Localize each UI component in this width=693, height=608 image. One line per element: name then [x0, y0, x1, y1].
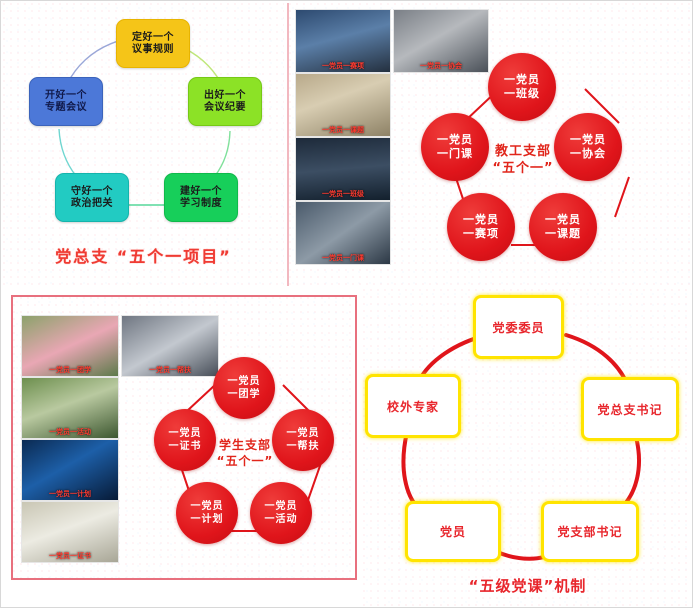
panel-student-branch-five-ones: 一党员一团学 一党员一帮扶 一党员一活动 一党员一计划 一党员一证书 一党员 一…	[11, 295, 357, 580]
flow-panel-title: 党总支 “五个一项目”	[3, 243, 284, 267]
node-line1: 一党员	[570, 133, 606, 147]
photo-caption: 一党员一团学	[22, 365, 118, 375]
flow-node-line1: 建好一个	[180, 186, 222, 198]
node-line2: 一帮扶	[287, 440, 320, 453]
student-node-youth-league[interactable]: 一党员 一团学	[213, 357, 275, 419]
node-line1: 一党员	[437, 133, 473, 147]
lecture-node-external-expert[interactable]: 校外专家	[365, 374, 461, 438]
node-line1: 一党员	[191, 500, 224, 513]
photo-thumbnail: 一党员一课题	[295, 73, 391, 137]
staff-node-research[interactable]: 一党员 一课题	[529, 193, 597, 261]
flow-node-political-check[interactable]: 守好一个 政治把关	[55, 173, 129, 222]
node-line2: 一证书	[169, 440, 202, 453]
flow-node-line2: 会议纪要	[204, 102, 246, 114]
lecture-node-label: 校外专家	[387, 398, 439, 415]
photo-thumbnail: 一党员一班级	[295, 137, 391, 201]
photo-thumbnail: 一党员一活动	[21, 377, 119, 439]
node-line2: 一班级	[504, 87, 540, 101]
flow-node-line1: 定好一个	[132, 32, 174, 44]
node-line1: 一党员	[463, 213, 499, 227]
student-ring-center-label: 学生支部 “五个一”	[203, 437, 287, 469]
lecture-node-label: 党员	[440, 523, 466, 540]
center-line2: “五个一”	[475, 160, 571, 177]
node-line2: 一活动	[265, 513, 298, 526]
student-node-activity[interactable]: 一党员 一活动	[250, 482, 312, 544]
flow-node-line2: 专题会议	[45, 102, 87, 114]
panel-five-level-lecture-mechanism: 党委委员 党总支书记 党支部书记 党员 校外专家 “五级党课”机制	[363, 289, 692, 607]
node-line1: 一党员	[169, 427, 202, 440]
flow-node-line1: 开好一个	[45, 90, 87, 102]
photo-thumbnail: 一党员一团学	[21, 315, 119, 377]
flow-node-line1: 出好一个	[204, 90, 246, 102]
lecture-node-label: 党总支书记	[597, 401, 662, 418]
photo-thumbnail: 一党员一赛项	[295, 9, 391, 73]
flow-node-study-system[interactable]: 建好一个 学习制度	[164, 173, 238, 222]
photo-caption: 一党员一赛项	[296, 61, 390, 71]
node-line1: 一党员	[287, 427, 320, 440]
flow-node-line2: 学习制度	[180, 198, 222, 210]
slide-canvas: 定好一个 议事规则 出好一个 会议纪要 建好一个 学习制度 守好一个 政治把关 …	[0, 0, 693, 608]
center-line2: “五个一”	[203, 453, 287, 469]
flow-node-rules[interactable]: 定好一个 议事规则	[116, 19, 190, 68]
lecture-node-label: 党委委员	[492, 319, 544, 336]
node-line1: 一党员	[265, 500, 298, 513]
staff-ring-center-label: 教工支部 “五个一”	[475, 143, 571, 177]
node-line1: 一党员	[545, 213, 581, 227]
photo-thumbnail: 一党员一门课	[295, 201, 391, 265]
node-line2: 一赛项	[463, 227, 499, 241]
node-line2: 一门课	[437, 147, 473, 161]
photo-thumbnail: 一党员一证书	[21, 501, 119, 563]
panel-staff-branch-five-ones: 一党员一赛项 一党员一协会 一党员一课题 一党员一班级 一党员一门课 一党员 一…	[287, 3, 692, 286]
photo-caption: 一党员一证书	[22, 551, 118, 561]
node-line1: 一党员	[504, 73, 540, 87]
node-line2: 一协会	[570, 147, 606, 161]
student-node-plan[interactable]: 一党员 一计划	[176, 482, 238, 544]
flow-node-line2: 议事规则	[132, 44, 174, 56]
photo-caption: 一党员一课题	[296, 125, 390, 135]
lecture-node-branch-secretary[interactable]: 党支部书记	[541, 501, 639, 562]
lecture-node-party-member[interactable]: 党员	[405, 501, 501, 562]
flow-node-line2: 政治把关	[71, 198, 113, 210]
lecture-panel-title: “五级党课”机制	[363, 575, 692, 596]
node-line2: 一计划	[191, 513, 224, 526]
node-line1: 一党员	[228, 375, 261, 388]
lecture-node-general-branch-secretary[interactable]: 党总支书记	[581, 377, 679, 441]
lecture-node-label: 党支部书记	[557, 523, 622, 540]
lecture-node-committee-member[interactable]: 党委委员	[473, 295, 564, 359]
flow-node-line1: 守好一个	[71, 186, 113, 198]
node-line2: 一课题	[545, 227, 581, 241]
node-line2: 一团学	[228, 388, 261, 401]
panel-party-branch-five-ones: 定好一个 议事规则 出好一个 会议纪要 建好一个 学习制度 守好一个 政治把关 …	[3, 3, 284, 286]
center-line1: 学生支部	[203, 437, 287, 453]
photo-caption: 一党员一计划	[22, 489, 118, 499]
photo-caption: 一党员一门课	[296, 253, 390, 263]
flow-node-special-meeting[interactable]: 开好一个 专题会议	[29, 77, 103, 126]
photo-caption: 一党员一班级	[296, 189, 390, 199]
staff-node-competition[interactable]: 一党员 一赛项	[447, 193, 515, 261]
center-line1: 教工支部	[475, 143, 571, 160]
photo-thumbnail: 一党员一计划	[21, 439, 119, 501]
flow-node-minutes[interactable]: 出好一个 会议纪要	[188, 77, 262, 126]
staff-node-class[interactable]: 一党员 一班级	[488, 53, 556, 121]
photo-caption: 一党员一活动	[22, 427, 118, 437]
